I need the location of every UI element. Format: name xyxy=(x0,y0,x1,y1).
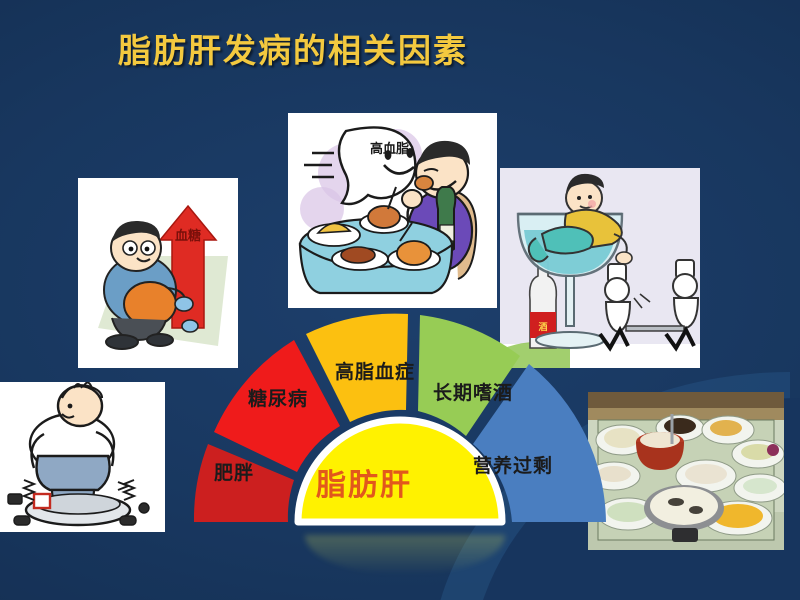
photo-high-blood-lipid-cartoon: 高血脂 xyxy=(288,113,497,308)
photo-banquet-food xyxy=(588,392,784,550)
blood-sugar-caption: 血糖 xyxy=(175,228,201,244)
slide-canvas: 脂肪肝发病的相关因素 血糖 xyxy=(0,0,800,600)
fan-label-diabetes: 糖尿病 xyxy=(248,384,308,411)
fan-label-overnutrition: 营养过剩 xyxy=(473,451,553,478)
fan-label-alcohol: 长期嗜酒 xyxy=(433,378,513,405)
high-lipid-illustration: 高血脂 xyxy=(288,113,497,308)
fan-label-hyperlipidemia: 高脂血症 xyxy=(335,357,415,384)
banquet-food-photograph xyxy=(588,392,784,550)
fan-label-obesity: 肥胖 xyxy=(214,458,254,485)
fan-center-label: 脂肪肝 xyxy=(316,460,412,504)
risk-factor-fan-chart: 肥胖 糖尿病 高脂血症 长期嗜酒 营养过剩 脂肪肝 xyxy=(190,300,610,532)
photo-obesity-scale-cartoon xyxy=(0,382,165,532)
page-title: 脂肪肝发病的相关因素 xyxy=(118,24,468,72)
obesity-scale-illustration xyxy=(0,382,165,532)
